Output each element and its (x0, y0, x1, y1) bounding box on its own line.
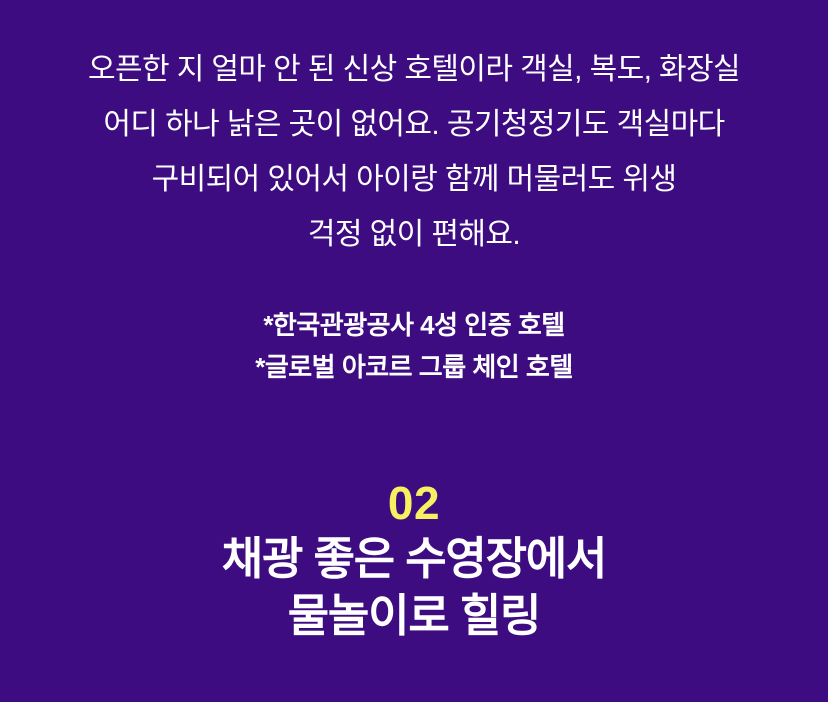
note-line: *글로벌 아코르 그룹 체인 호텔 (255, 346, 573, 388)
description-line: 걱정 없이 편해요. (308, 207, 520, 262)
description-block: 오픈한 지 얼마 안 된 신상 호텔이라 객실, 복도, 화장실 어디 하나 낡… (0, 42, 828, 262)
description-line: 구비되어 있어서 아이랑 함께 머물러도 위생 (152, 152, 677, 207)
note-line: *한국관광공사 4성 인증 호텔 (263, 304, 564, 346)
description-line: 오픈한 지 얼마 안 된 신상 호텔이라 객실, 복도, 화장실 (88, 42, 740, 97)
notes-block: *한국관광공사 4성 인증 호텔 *글로벌 아코르 그룹 체인 호텔 (0, 304, 828, 388)
description-line: 어디 하나 낡은 곳이 없어요. 공기청정기도 객실마다 (103, 97, 724, 152)
section-number: 02 (388, 476, 440, 530)
promo-card: 오픈한 지 얼마 안 된 신상 호텔이라 객실, 복도, 화장실 어디 하나 낡… (0, 0, 828, 702)
section-title-line: 물놀이로 힐링 (288, 587, 541, 644)
section-heading-block: 02 채광 좋은 수영장에서 물놀이로 힐링 (0, 476, 828, 644)
section-title-line: 채광 좋은 수영장에서 (222, 530, 606, 587)
